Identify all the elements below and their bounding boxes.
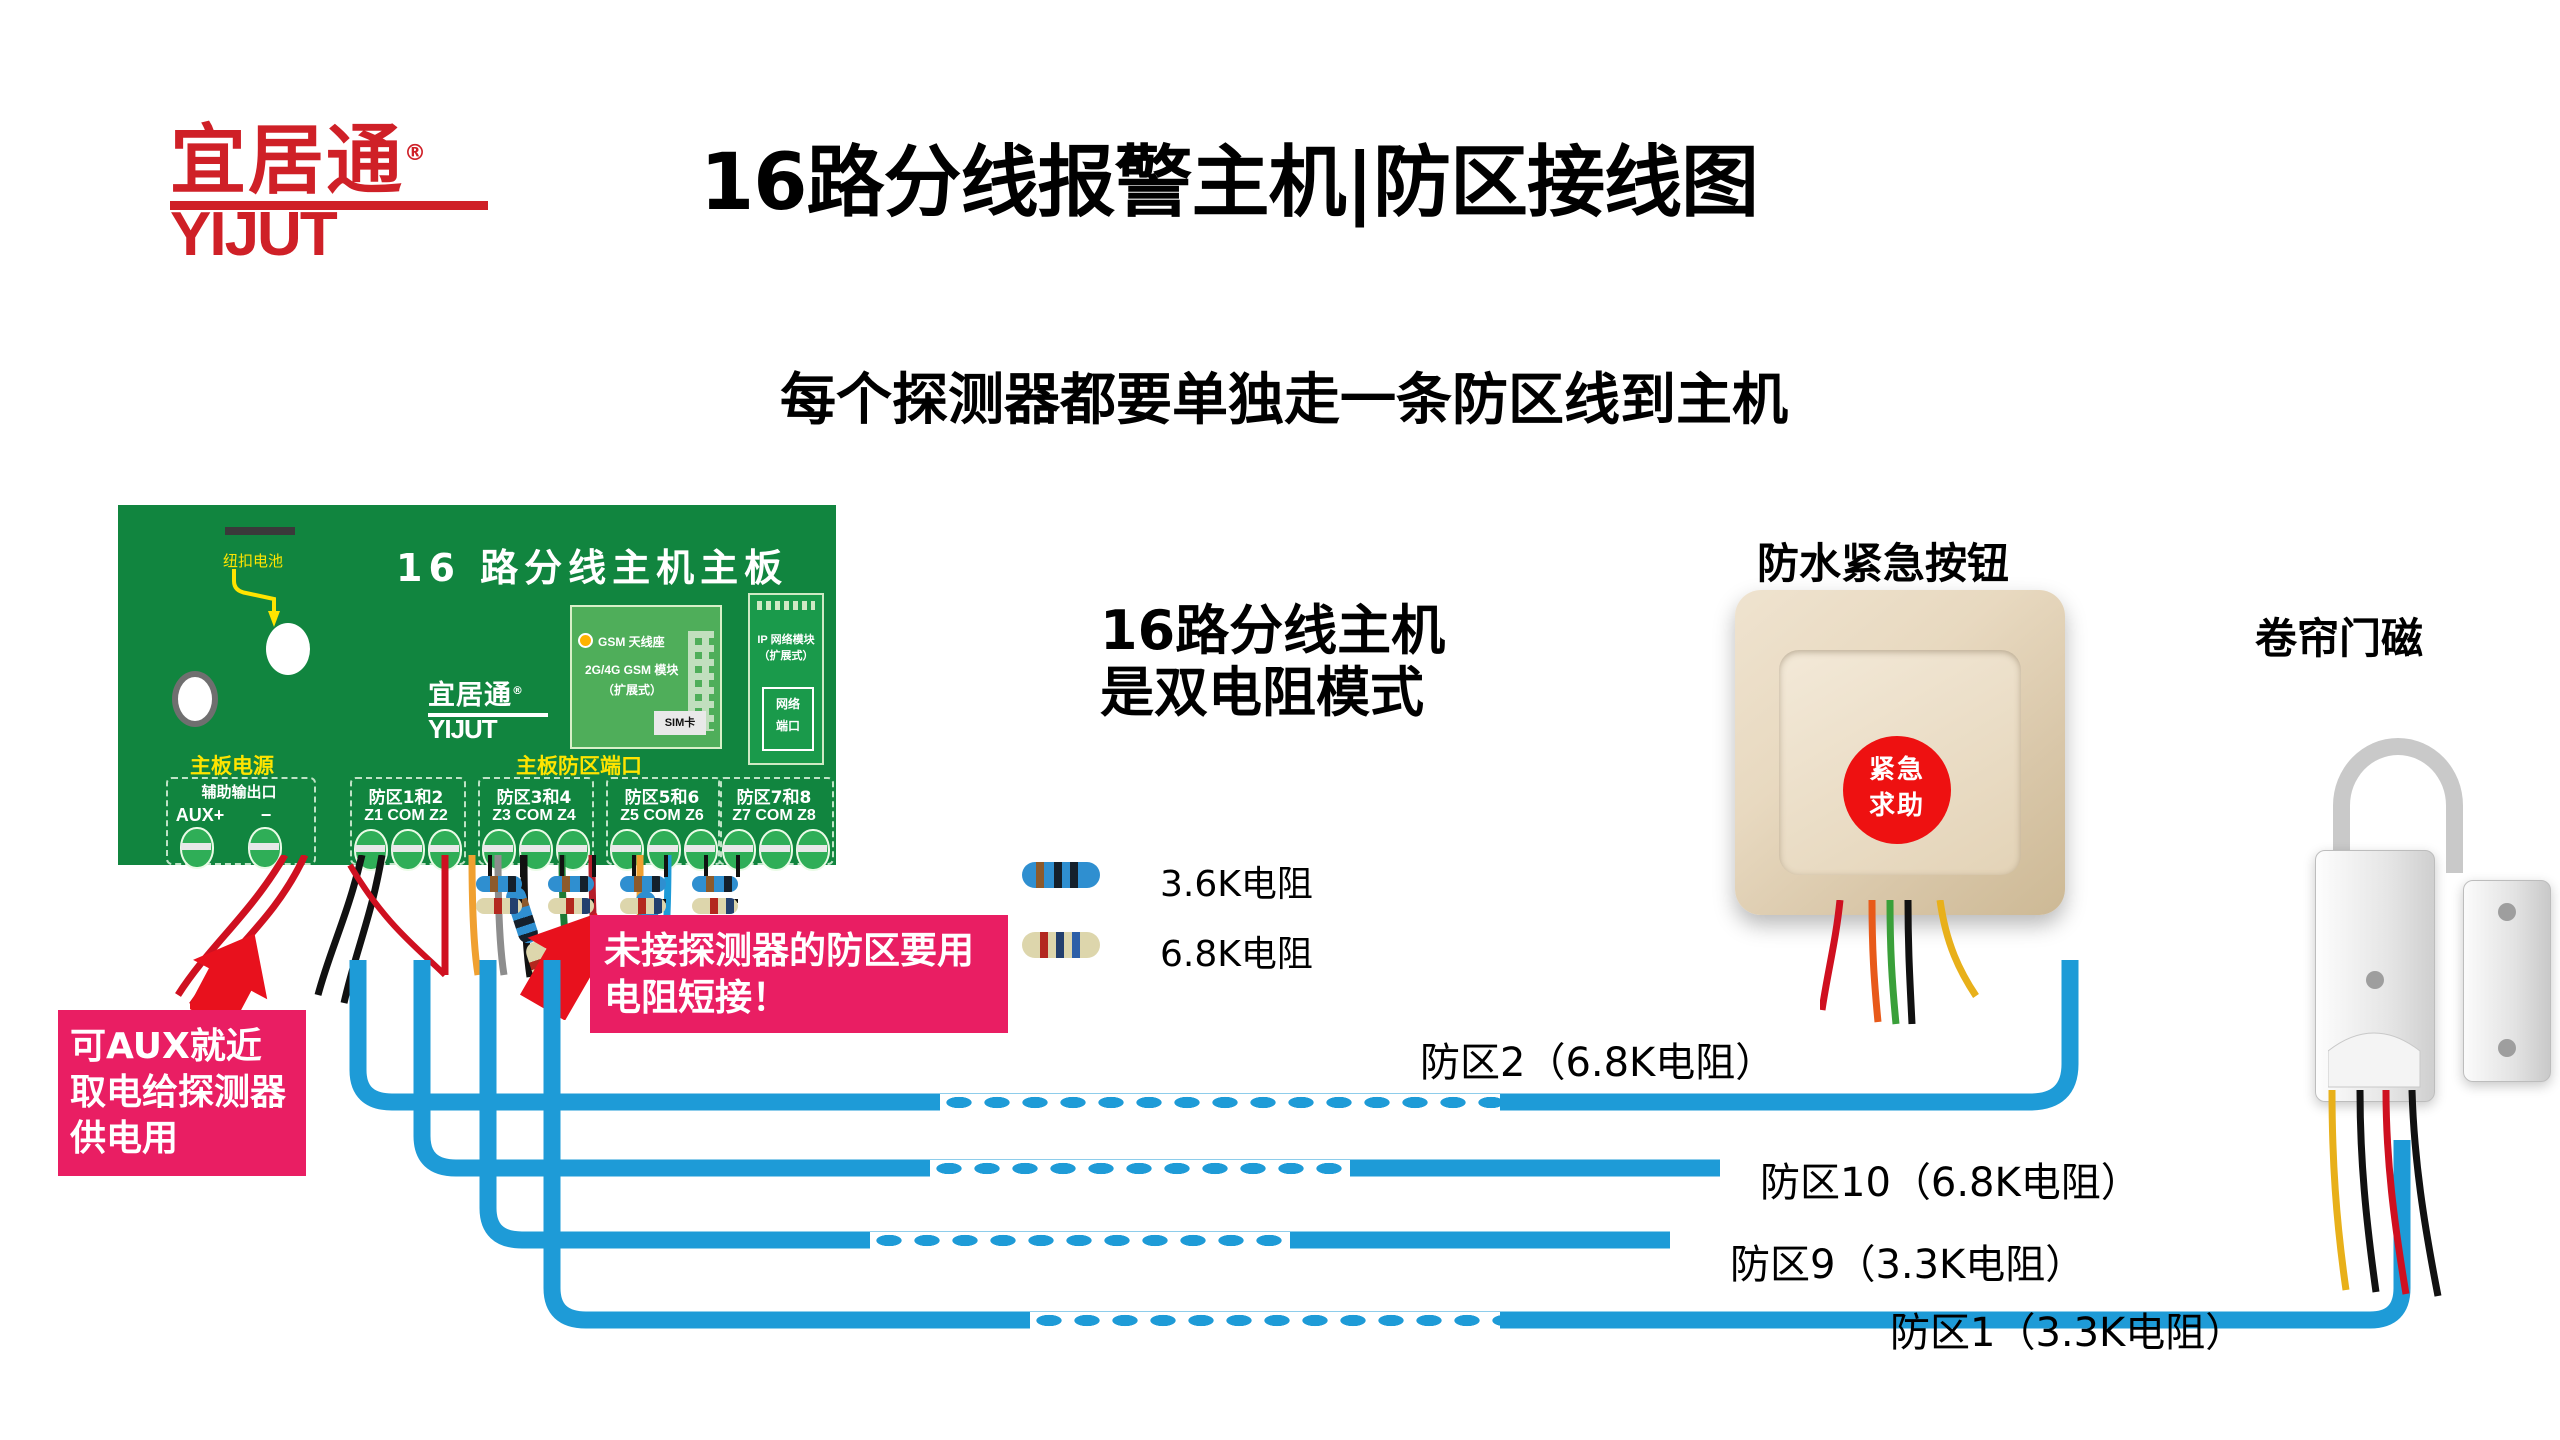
door-magnet-body [2315, 850, 2435, 1102]
gsm-antenna-label: GSM 天线座 [598, 633, 665, 650]
ip-module-name: IP 网络模块 [754, 631, 818, 647]
ip-network-port: 网络端口 [762, 687, 814, 751]
door-magnet-screw-hole [2366, 971, 2384, 989]
company-logo: 宜居通® YIJUT [170, 115, 500, 250]
short-resistor-1b [476, 898, 522, 914]
waterproof-emergency-button[interactable]: 紧急 求助 [1735, 590, 2065, 915]
emergency-text-line2: 求助 [1843, 788, 1951, 824]
device-label-emergency-button: 防水紧急按钮 [1757, 530, 2009, 591]
dual-resistor-line2: 是双电阻模式 [1100, 662, 1445, 724]
short-resistor-4b [692, 898, 738, 914]
legend-resistor-icon-36k [1022, 862, 1100, 888]
registered-mark-icon: ® [404, 141, 428, 166]
pcb-trace [225, 527, 295, 535]
gsm-antenna-icon [578, 633, 593, 648]
zone-group-title-2: 防区3和4 [478, 783, 590, 808]
zone-section-title: 主板防区端口 [516, 750, 642, 780]
zone-group-terminals-1: Z1 COM Z2 [350, 807, 462, 825]
short-resistor-2a [548, 876, 594, 892]
cable-zone-1-dashes [1030, 1312, 1500, 1329]
gsm-module-name: 2G/4G GSM 模块 [585, 661, 678, 678]
power-section-title: 主板电源 [190, 750, 274, 780]
power-section-sub: 辅助输出口 [166, 781, 312, 802]
plate-screw-hole-bottom [2498, 1039, 2516, 1057]
legend-resistor-icon-68k [1022, 932, 1100, 958]
page-subtitle: 每个探测器都要单独走一条防区线到主机 [780, 355, 1980, 436]
door-magnet-shape [2328, 1021, 2422, 1091]
aux-power-callout: 可AUX就近取电给探测器供电用 [58, 1010, 306, 1176]
ip-module-pins [757, 601, 815, 610]
short-resistor-1a [476, 876, 522, 892]
zone-label-1: 防区1（3.3K电阻） [1890, 1300, 2245, 1358]
sim-slot-label: SIM卡 [654, 711, 706, 735]
ip-network-module: IP 网络模块 （扩展式） 网络端口 [748, 593, 824, 765]
page-title: 16路分线报警主机|防区接线图 [700, 120, 1900, 232]
plate-screw-hole-top [2498, 903, 2516, 921]
short-resistor-4a [692, 876, 738, 892]
gsm-module: GSM 天线座 2G/4G GSM 模块 （扩展式） SIM卡 [570, 605, 722, 749]
terminal-aux-minus: − [246, 805, 286, 826]
legend-label-36k: 3.6K电阻 [1160, 855, 1313, 907]
mounting-hole-2 [178, 677, 212, 721]
zone-label-9: 防区9（3.3K电阻） [1730, 1232, 2085, 1290]
gsm-module-type: （扩展式） [602, 681, 662, 698]
zone-group-terminals-2: Z3 COM Z4 [478, 807, 590, 825]
pcb-brand: 宜居通® YIJUT [428, 673, 548, 741]
zone-group-terminals-3: Z5 COM Z6 [606, 807, 718, 825]
zone-label-2: 防区2（6.8K电阻） [1420, 1030, 1775, 1088]
ip-module-type: （扩展式） [754, 647, 818, 663]
logo-chinese: 宜居通® [170, 115, 500, 199]
logo-english: YIJUT [170, 206, 500, 264]
emergency-text-line1: 紧急 [1843, 752, 1951, 788]
door-magnet-plate [2463, 880, 2551, 1082]
board-title: 16 路分线主机主板 [396, 537, 788, 592]
zone-group-title-1: 防区1和2 [350, 783, 462, 808]
zone-label-10: 防区10（6.8K电阻） [1760, 1150, 2141, 1208]
zone-group-title-3: 防区5和6 [606, 783, 718, 808]
terminal-aux-plus: AUX+ [170, 805, 230, 826]
emergency-button-wires [1820, 900, 2000, 1050]
dual-resistor-line1: 16路分线主机 [1100, 600, 1445, 662]
door-magnet-wires [2320, 1090, 2490, 1330]
zone-group-title-4: 防区7和8 [718, 783, 830, 808]
short-resistor-3a [620, 876, 666, 892]
mounting-hole-1 [266, 623, 310, 675]
control-panel-pcb: 纽扣电池 16 路分线主机主板 宜居通® YIJUT GSM 天线座 2G/4G… [118, 505, 836, 865]
dual-resistor-note: 16路分线主机 是双电阻模式 [1100, 600, 1445, 724]
device-label-door-magnet: 卷帘门磁 [2255, 605, 2423, 666]
zone-group-terminals-4: Z7 COM Z8 [718, 807, 830, 825]
emergency-help-button[interactable]: 紧急 求助 [1843, 736, 1951, 844]
